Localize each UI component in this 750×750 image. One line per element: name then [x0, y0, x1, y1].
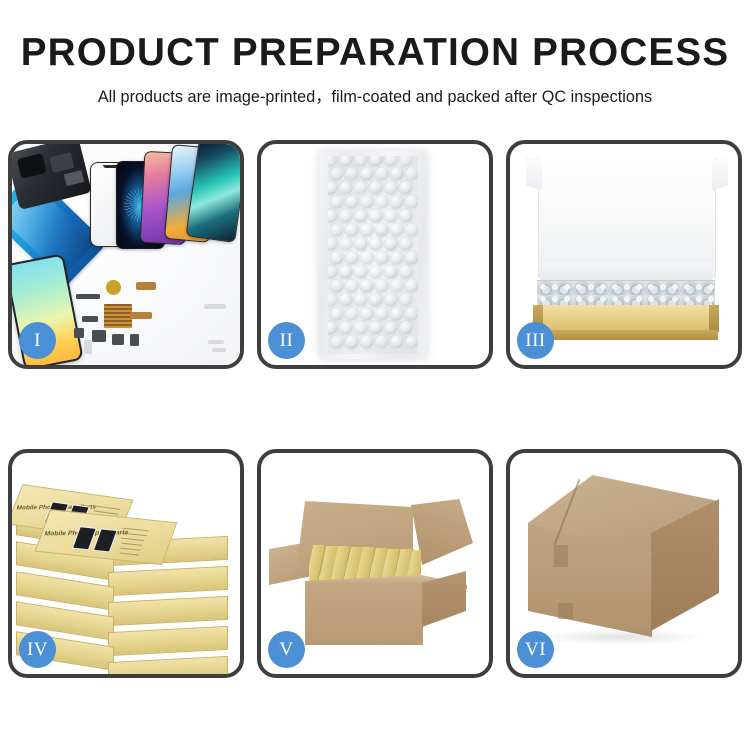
part-connector-a	[136, 282, 156, 290]
bubble-cell	[328, 181, 339, 196]
bubble-cell	[369, 237, 384, 252]
bubble-cell	[339, 293, 354, 308]
bubble-cell	[399, 181, 414, 196]
bubble-cell	[339, 181, 354, 196]
bubble-cell	[339, 209, 354, 224]
bubble-cell	[330, 279, 345, 294]
bubble-cell	[375, 167, 390, 182]
bubble-cell	[390, 335, 405, 350]
bubble-cell	[328, 293, 339, 308]
bubble-cell	[345, 279, 360, 294]
bubble-cell	[384, 181, 399, 196]
bubble-cell	[354, 237, 369, 252]
bubble-cell	[405, 307, 418, 322]
carton-front-face	[305, 583, 423, 645]
bubble-cell	[375, 251, 390, 266]
bubble-cell	[399, 321, 414, 336]
bubble-cell	[345, 223, 360, 238]
bubble-cell	[399, 237, 414, 252]
bubble-cell	[384, 209, 399, 224]
bubble-cell	[354, 209, 369, 224]
bubble-cell	[360, 279, 375, 294]
bubble-cell	[360, 167, 375, 182]
bubble-cell	[360, 251, 375, 266]
kraft-box-side	[108, 566, 228, 596]
box-kraft-tray	[534, 305, 718, 332]
bubble-cell	[390, 251, 405, 266]
bubble-cell	[375, 223, 390, 238]
bubble-cell	[360, 335, 375, 350]
bubble-cell	[330, 307, 345, 322]
kraft-box-side	[108, 626, 228, 656]
page-header: PRODUCT PREPARATION PROCESS All products…	[0, 0, 750, 107]
step-badge-iv: IV	[19, 631, 56, 668]
bubble-cell	[405, 167, 418, 182]
bubble-cell	[390, 167, 405, 182]
bubble-cell	[330, 335, 345, 350]
bubble-cell	[369, 265, 384, 280]
bubble-cell	[399, 265, 414, 280]
bubble-cell	[354, 181, 369, 196]
bubble-cell	[330, 251, 345, 266]
step-panel-v[interactable]: V	[257, 449, 493, 678]
carton-shadow	[540, 629, 704, 645]
part-bracket-a	[82, 316, 98, 322]
bubble-cell	[328, 265, 339, 280]
step-panel-iv[interactable]: Mobile Phone Spare PartsMobile Phone Spa…	[8, 449, 244, 678]
part-button-set	[112, 334, 124, 345]
bubble-field	[328, 156, 418, 354]
bubble-cell	[328, 209, 339, 224]
bubble-cell	[375, 307, 390, 322]
bubble-cell	[330, 195, 345, 210]
box-lid-open	[538, 158, 716, 278]
part-connector-b	[130, 312, 152, 319]
bubble-cell	[345, 251, 360, 266]
carton-tape-lower	[558, 603, 573, 619]
bubble-cell	[384, 321, 399, 336]
step-badge-ii: II	[268, 322, 305, 359]
step-badge-vi: VI	[517, 631, 554, 668]
step-badge-iii: III	[517, 322, 554, 359]
bubble-cell	[390, 307, 405, 322]
bubble-cell	[360, 195, 375, 210]
carton-tape-upper	[554, 545, 568, 567]
bubble-cell	[399, 293, 414, 308]
part-flex-strip	[76, 294, 100, 299]
kraft-box-side	[108, 596, 228, 626]
bubble-cell	[384, 293, 399, 308]
part-tweezers	[208, 340, 224, 344]
bubble-cell	[339, 265, 354, 280]
kraft-box-side	[108, 656, 228, 674]
box-spec-line	[121, 538, 144, 541]
bubble-cell	[360, 223, 375, 238]
bubble-cell	[384, 237, 399, 252]
bubble-cell	[405, 251, 418, 266]
part-pry-tool	[212, 348, 226, 352]
bubble-cell	[390, 195, 405, 210]
bubble-cell	[405, 279, 418, 294]
box-kraft-tray-front	[534, 330, 718, 340]
bubble-cell	[369, 293, 384, 308]
box-spec-line	[120, 548, 140, 551]
part-camera-module	[92, 330, 106, 342]
bubble-cell	[384, 265, 399, 280]
bubble-cell	[375, 279, 390, 294]
bubble-cell	[345, 195, 360, 210]
box-spec-line	[120, 553, 139, 556]
bubble-cell	[328, 321, 339, 336]
page-subtitle: All products are image-printed，film-coat…	[0, 74, 750, 107]
step-panel-vi[interactable]: VI	[506, 449, 742, 678]
bubble-cell	[369, 321, 384, 336]
box-spec-line	[94, 505, 120, 510]
step-badge-i: I	[19, 322, 56, 359]
bubble-cell	[375, 195, 390, 210]
part-screwdriver	[204, 304, 226, 309]
bubble-cell	[354, 265, 369, 280]
page-title: PRODUCT PREPARATION PROCESS	[4, 0, 747, 74]
bubble-cell	[405, 335, 418, 350]
bubble-cell	[339, 237, 354, 252]
bubble-cell	[354, 321, 369, 336]
bubble-cell	[405, 223, 418, 238]
bubble-cell	[360, 307, 375, 322]
bubble-cell	[330, 223, 345, 238]
bubble-cell	[345, 307, 360, 322]
bubble-cell	[375, 335, 390, 350]
part-chip-array	[104, 304, 132, 328]
bubble-cell	[390, 223, 405, 238]
bubble-cell	[354, 293, 369, 308]
box-spec-line	[121, 543, 143, 546]
step-panel-iii[interactable]: III	[506, 140, 742, 369]
bubble-pouch	[319, 151, 427, 359]
part-vibrator	[130, 334, 139, 346]
bubble-cell	[405, 195, 418, 210]
bubble-cell	[390, 279, 405, 294]
bubble-cell	[399, 209, 414, 224]
bubble-cell	[369, 181, 384, 196]
bubble-cell	[345, 167, 360, 182]
part-speaker-coil	[106, 280, 121, 295]
bubble-cell	[330, 167, 345, 182]
part-bracket-b	[74, 328, 84, 338]
process-step-grid: I II III Mobile Phone Spare PartsMobile …	[8, 140, 742, 678]
bubble-cell	[345, 335, 360, 350]
step-panel-i[interactable]: I	[8, 140, 244, 369]
box-bubble-contents	[537, 280, 715, 308]
step-panel-ii[interactable]: II	[257, 140, 493, 369]
step-badge-v: V	[268, 631, 305, 668]
part-sim-tray	[84, 340, 92, 354]
bubble-cell	[328, 237, 339, 252]
bubble-cell	[369, 209, 384, 224]
bubble-cell	[339, 321, 354, 336]
